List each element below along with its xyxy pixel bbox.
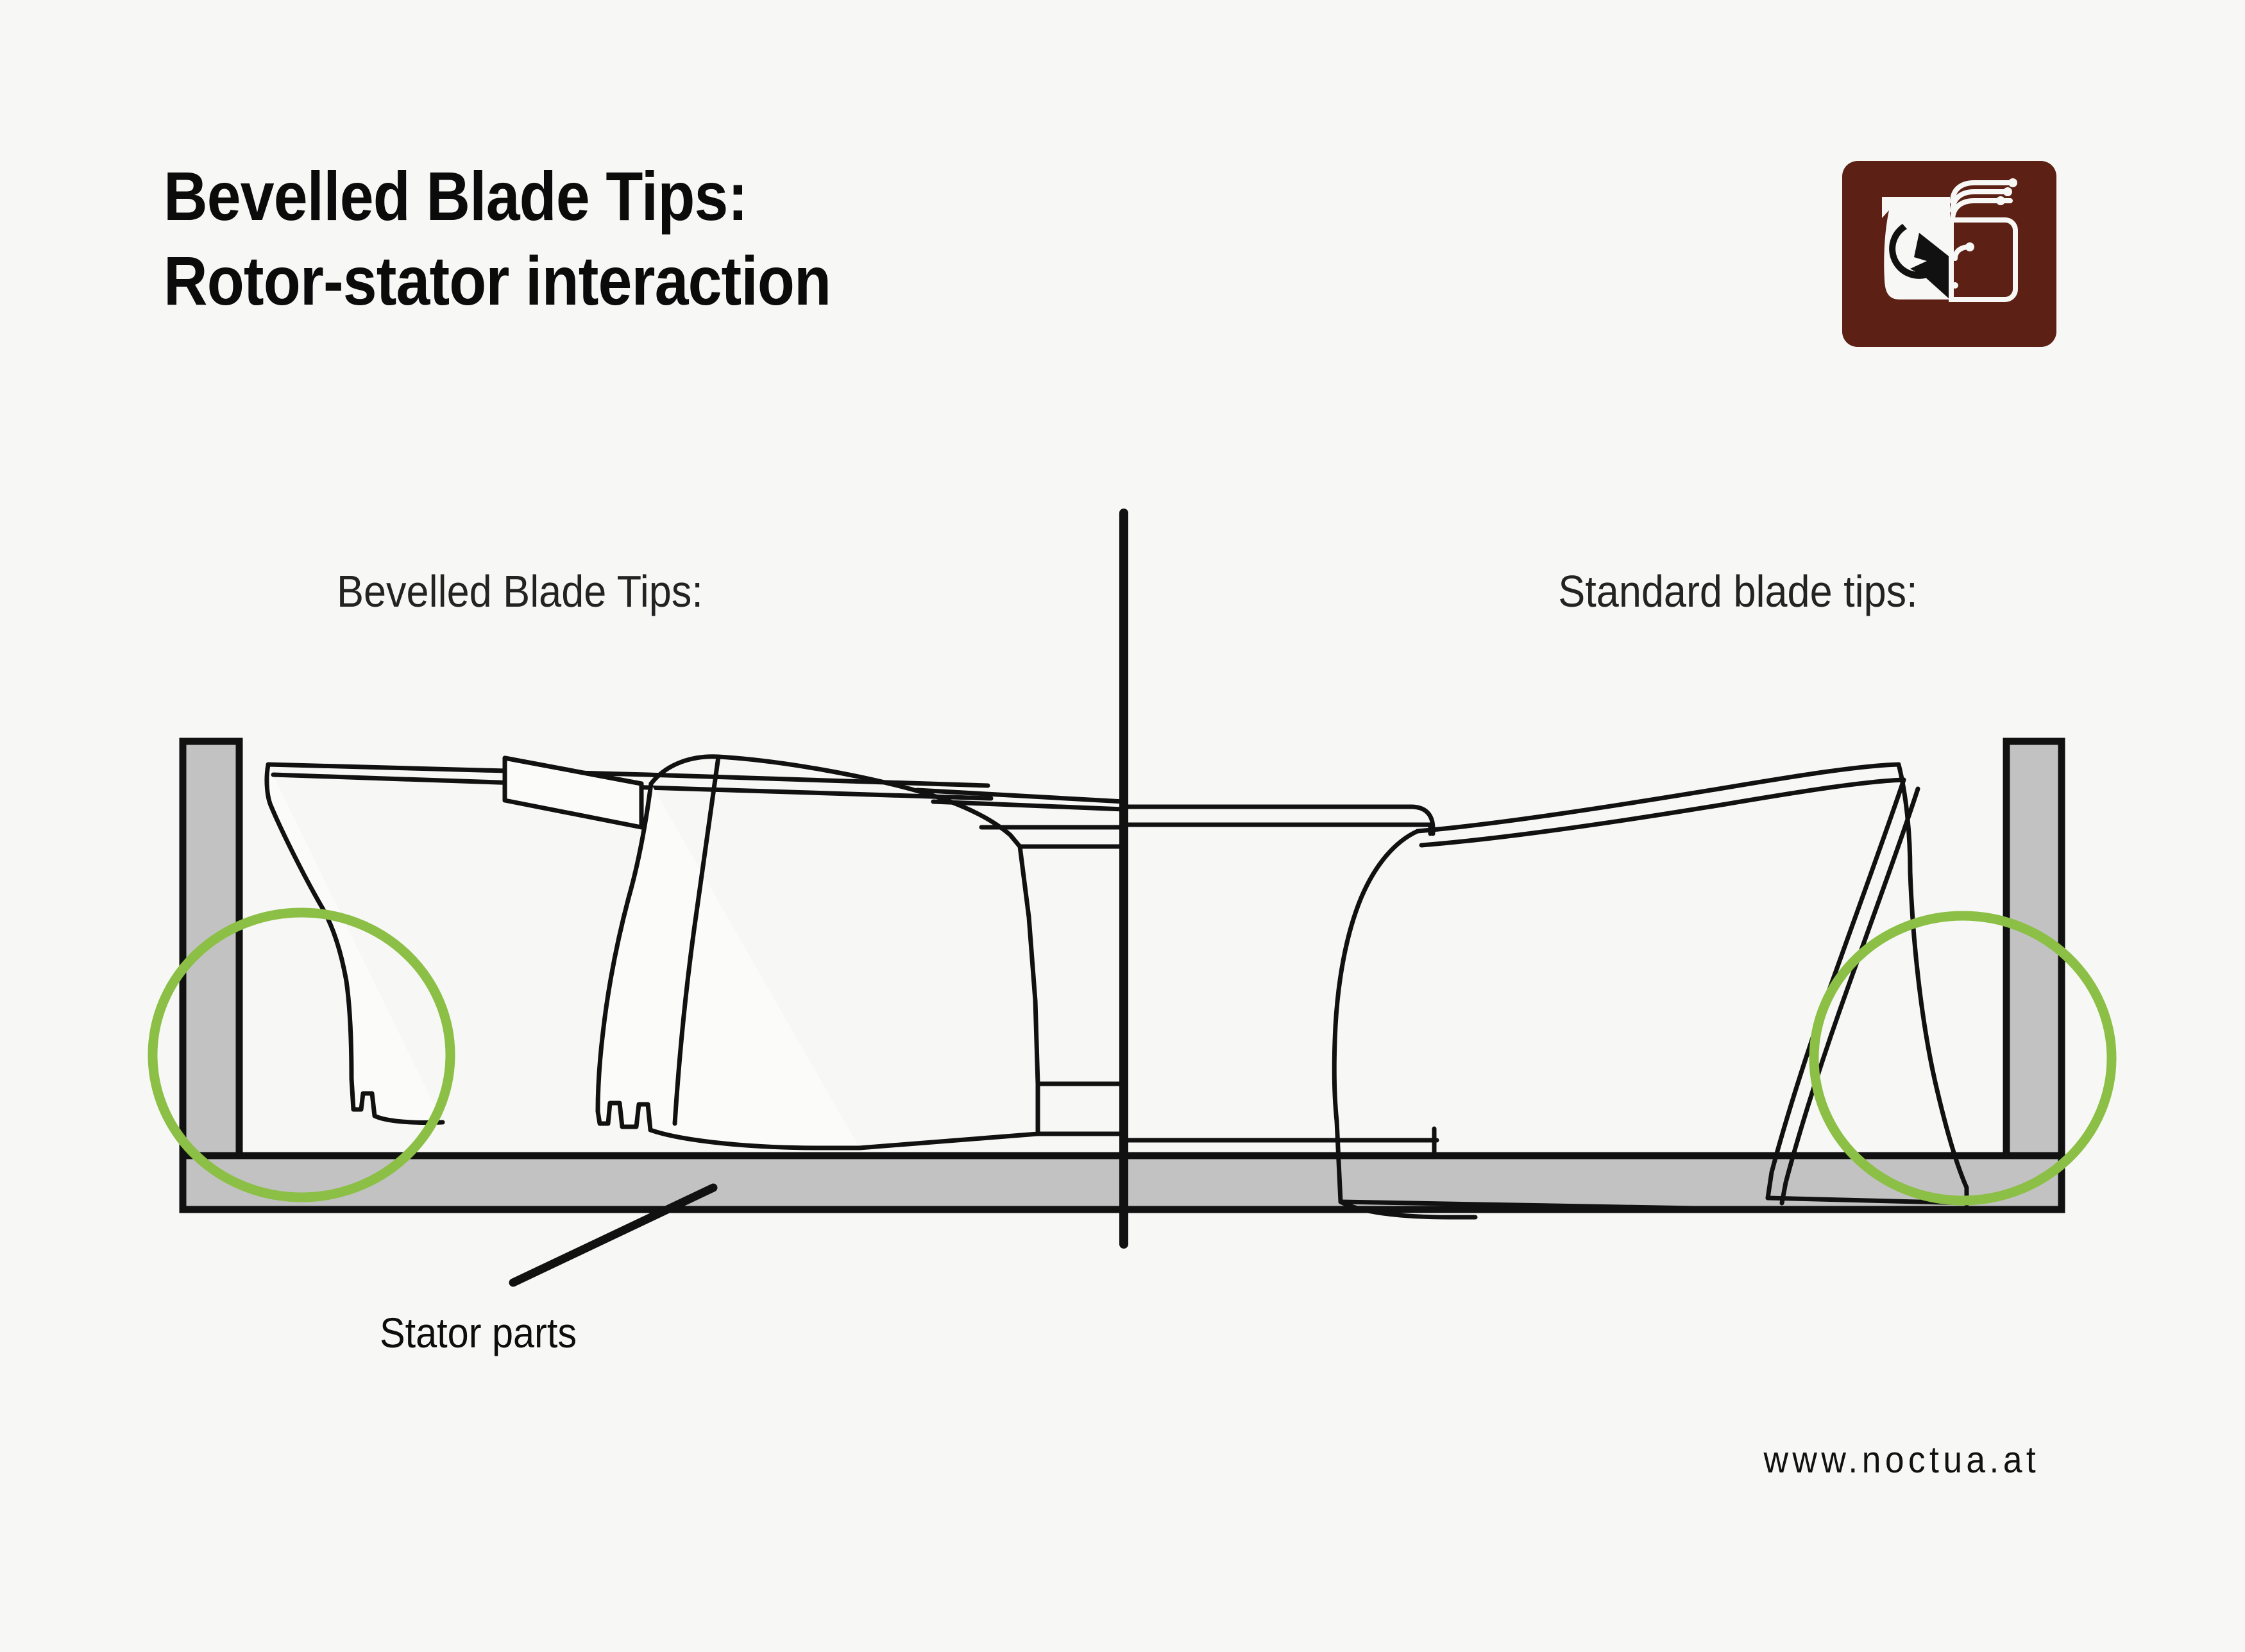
website-url: www.noctua.at [1763, 1438, 2040, 1481]
rotor-stator-drawing [0, 0, 2245, 1652]
diagram-page: Bevelled Blade Tips: Rotor-stator intera… [0, 0, 2245, 1652]
rotor-blades-bevelled [267, 757, 1124, 1148]
stator-parts-label: Stator parts [380, 1308, 577, 1357]
rotor-blades-standard [1124, 764, 2006, 1217]
